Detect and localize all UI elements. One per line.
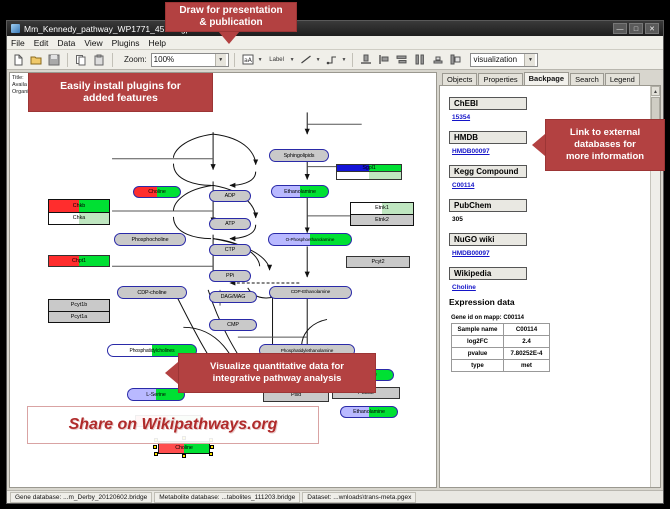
toolbar-separator xyxy=(234,53,235,67)
node-etnk1[interactable]: Etnk1 xyxy=(351,203,413,215)
zoom-combo[interactable]: 100% ▼ xyxy=(151,53,229,67)
menu-edit[interactable]: Edit xyxy=(34,38,49,48)
status-metabolite-database: Metabolite database: ...tabolites_111203… xyxy=(154,492,300,503)
meta-title: Title: xyxy=(12,75,29,82)
node-chkb[interactable]: Chkb xyxy=(49,200,109,213)
status-dataset: Dataset: ...wnloads\trans-meta.pgex xyxy=(302,492,416,503)
zoom-value: 100% xyxy=(154,55,215,64)
node-ppi[interactable]: PPi xyxy=(209,270,251,282)
callout-external-links-arrow-icon xyxy=(532,134,545,156)
chevron-down-icon[interactable]: ▼ xyxy=(342,57,347,63)
db-section-chebi: ChEBI 15354 xyxy=(449,93,650,121)
visualization-combo[interactable]: visualization ▼ xyxy=(470,53,538,67)
table-row: log2FC 2.4 xyxy=(452,336,550,348)
chevron-down-icon[interactable]: ▼ xyxy=(215,54,226,66)
node-etnk2[interactable]: Etnk2 xyxy=(351,215,413,226)
db-header-kegg-compound: Kegg Compound xyxy=(449,165,527,178)
menu-help[interactable]: Help xyxy=(149,38,166,48)
node-group-pcyt1[interactable]: Pcyt1b Pcyt1a xyxy=(48,299,110,323)
node-cdp-choline[interactable]: CDP-choline xyxy=(117,286,187,299)
menu-view[interactable]: View xyxy=(84,38,102,48)
expr-key-type: type xyxy=(452,360,504,372)
db-section-wikipedia: Wikipedia Choline xyxy=(449,263,650,291)
expr-val-sample-name: C00114 xyxy=(504,324,550,336)
paste-icon[interactable] xyxy=(91,52,107,68)
maximize-button[interactable]: □ xyxy=(629,23,643,34)
db-link-wikipedia[interactable]: Choline xyxy=(452,284,650,291)
node-o-phosphoethanolamine[interactable]: O-Phosphoethanolamine xyxy=(268,233,352,246)
pathway-canvas[interactable]: Title: Availa Organi xyxy=(9,72,437,488)
distribute-vertical-icon[interactable] xyxy=(394,52,410,68)
node-phosphocholine[interactable]: Phosphocholine xyxy=(114,233,186,246)
node-cmp[interactable]: CMP xyxy=(209,319,257,331)
copy-icon[interactable] xyxy=(73,52,89,68)
line-icon[interactable] xyxy=(298,52,314,68)
callout-link-line2: databases for xyxy=(574,139,636,151)
distribute-horizontal-icon[interactable] xyxy=(412,52,428,68)
table-row: Sample name C00114 xyxy=(452,324,550,336)
meta-organism: Organi xyxy=(12,89,29,96)
callout-draw: Draw for presentation & publication xyxy=(165,2,297,32)
toolbar-separator xyxy=(112,53,113,67)
align-bottom-icon[interactable] xyxy=(358,52,374,68)
expression-data-heading: Expression data xyxy=(449,297,650,307)
new-document-icon[interactable] xyxy=(10,52,26,68)
node-ctp[interactable]: CTP xyxy=(209,244,251,256)
db-header-pubchem: PubChem xyxy=(449,199,527,212)
open-folder-icon[interactable] xyxy=(28,52,44,68)
resize-handle-e[interactable] xyxy=(210,445,214,449)
callout-plugins-line1: Easily install plugins for xyxy=(60,80,181,92)
toolbar-separator xyxy=(67,53,68,67)
db-value-pubchem: 305 xyxy=(452,216,650,223)
app-icon xyxy=(11,24,20,33)
callout-visualize-arrow-icon xyxy=(165,362,178,384)
callout-plugins: Easily install plugins for added feature… xyxy=(28,72,213,112)
toolbar-separator xyxy=(352,53,353,67)
order-icon[interactable] xyxy=(448,52,464,68)
resize-handle-sw[interactable] xyxy=(154,452,158,456)
node-atp[interactable]: ATP xyxy=(209,218,251,230)
share-banner: Share on Wikipathways.org xyxy=(27,406,319,444)
callout-plugins-line2: added features xyxy=(83,92,158,104)
callout-external-links: Link to external databases for more info… xyxy=(545,119,665,171)
db-header-hmdb: HMDB xyxy=(449,131,527,144)
callout-visualize-line1: Visualize quantitative data for xyxy=(210,361,344,373)
tab-objects[interactable]: Objects xyxy=(442,73,477,85)
pathway-meta: Title: Availa Organi xyxy=(12,75,29,96)
window-controls: — □ ✕ xyxy=(613,23,659,34)
menu-data[interactable]: Data xyxy=(57,38,75,48)
expr-key-sample-name: Sample name xyxy=(452,324,504,336)
node-dag-mag[interactable]: DAG/MAG xyxy=(209,291,257,303)
meta-availability: Availa xyxy=(12,82,29,89)
node-sphingolipids[interactable]: Sphingolipids xyxy=(269,149,329,162)
callout-link-line3: more information xyxy=(566,151,644,163)
node-adp[interactable]: ADP xyxy=(209,190,251,202)
node-sgpl1[interactable]: Sgpl1 xyxy=(336,164,402,172)
callout-link-line1: Link to external xyxy=(570,127,640,139)
table-row: pvalue 7.80252E-4 xyxy=(452,348,550,360)
menu-file[interactable]: File xyxy=(11,38,25,48)
node-group-etnk[interactable]: Etnk1 Etnk2 xyxy=(350,202,414,226)
callout-visualize-line2: integrative pathway analysis xyxy=(213,373,342,385)
node-sgpl1-bottom xyxy=(336,172,402,180)
node-group-chk[interactable]: Chkb Chka xyxy=(48,199,110,225)
window-titlebar: Mm_Kennedy_pathway_WP1771_45176.gpml — □… xyxy=(7,21,663,36)
db-section-nugo: NuGO wiki HMDB00097 xyxy=(449,229,650,257)
toolbar: Zoom: 100% ▼ aA ▼ Label ▼ ▼ ▼ xyxy=(7,50,663,70)
db-header-nugo-wiki: NuGO wiki xyxy=(449,233,527,246)
resize-handle-s[interactable] xyxy=(182,454,186,458)
close-button[interactable]: ✕ xyxy=(645,23,659,34)
chevron-down-icon[interactable]: ▼ xyxy=(524,54,535,66)
side-panel-tabs: Objects Properties Backpage Search Legen… xyxy=(439,72,661,85)
callout-draw-line1: Draw for presentation xyxy=(179,5,282,17)
table-row: type met xyxy=(452,360,550,372)
group-icon[interactable] xyxy=(430,52,446,68)
minimize-button[interactable]: — xyxy=(613,23,627,34)
application-window: Mm_Kennedy_pathway_WP1771_45176.gpml — □… xyxy=(6,20,664,504)
svg-text:aA: aA xyxy=(244,57,253,64)
db-header-chebi: ChEBI xyxy=(449,97,527,110)
node-pcyt2[interactable]: Pcyt2 xyxy=(346,256,410,268)
callout-draw-line2: & publication xyxy=(199,17,262,29)
node-cdp-ethanolamine[interactable]: CDP-Ethanolamine xyxy=(269,286,352,299)
chevron-down-icon[interactable]: ▼ xyxy=(316,57,321,63)
connector-icon[interactable] xyxy=(324,52,340,68)
expr-val-log2fc: 2.4 xyxy=(504,336,550,348)
node-chpt1[interactable]: Chpt1 xyxy=(48,255,110,267)
align-left-icon[interactable] xyxy=(376,52,392,68)
visualization-value: visualization xyxy=(473,55,524,64)
zoom-label: Zoom: xyxy=(124,55,147,64)
text-format-icon[interactable]: aA xyxy=(240,52,256,68)
tab-backpage[interactable]: Backpage xyxy=(524,72,569,85)
expr-key-log2fc: log2FC xyxy=(452,336,504,348)
tab-search[interactable]: Search xyxy=(570,73,604,85)
chevron-down-icon[interactable]: ▼ xyxy=(258,57,263,63)
db-link-nugo-wiki[interactable]: HMDB00097 xyxy=(452,250,650,257)
tab-properties[interactable]: Properties xyxy=(478,73,522,85)
save-icon[interactable] xyxy=(46,52,62,68)
resize-handle-w[interactable] xyxy=(153,445,157,449)
node-pcyt1a[interactable]: Pcyt1a xyxy=(49,312,109,323)
expression-gene-id: Gene id on mapp: C00114 xyxy=(451,315,650,321)
menubar: File Edit Data View Plugins Help xyxy=(7,36,663,50)
statusbar: Gene database: ...m_Derby_20120602.bridg… xyxy=(7,490,663,503)
callout-draw-arrow-icon xyxy=(218,31,240,44)
node-ethanolamine-bottom[interactable]: Ethanolamine xyxy=(340,406,398,418)
db-link-kegg-compound[interactable]: C00114 xyxy=(452,182,650,189)
scroll-up-icon[interactable]: ▲ xyxy=(651,86,660,96)
node-chka[interactable]: Chka xyxy=(49,213,109,225)
expr-val-pvalue: 7.80252E-4 xyxy=(504,348,550,360)
node-l-serine-left[interactable]: L-Serine xyxy=(127,388,185,401)
node-ethanolamine-top[interactable]: Ethanolamine xyxy=(271,185,329,198)
label-dropdown[interactable]: Label xyxy=(266,52,288,68)
db-section-pubchem: PubChem 305 xyxy=(449,195,650,223)
node-choline-top[interactable]: Choline xyxy=(133,186,181,198)
node-pcyt1b[interactable]: Pcyt1b xyxy=(49,300,109,312)
status-gene-database: Gene database: ...m_Derby_20120602.bridg… xyxy=(10,492,152,503)
chevron-down-icon[interactable]: ▼ xyxy=(290,57,295,63)
resize-handle-se[interactable] xyxy=(209,452,213,456)
callout-visualize: Visualize quantitative data for integrat… xyxy=(178,353,376,393)
expr-key-pvalue: pvalue xyxy=(452,348,504,360)
db-header-wikipedia: Wikipedia xyxy=(449,267,527,280)
menu-plugins[interactable]: Plugins xyxy=(112,38,140,48)
expression-table: Sample name C00114 log2FC 2.4 pvalue 7.8… xyxy=(451,323,550,372)
expr-val-type: met xyxy=(504,360,550,372)
tab-legend[interactable]: Legend xyxy=(605,73,640,85)
